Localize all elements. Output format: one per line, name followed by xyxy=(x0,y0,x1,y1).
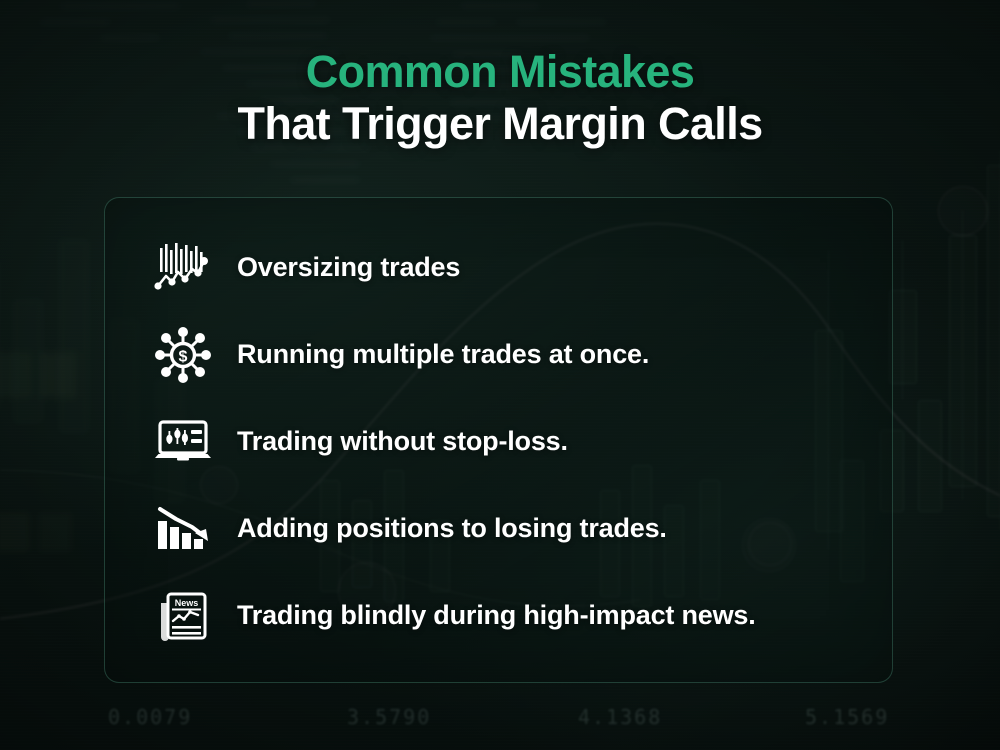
ticker-number: 4.1368 xyxy=(578,705,662,729)
infographic-canvas: 0.0079 3.5790 4.1368 5.1569 Common Mista… xyxy=(0,0,1000,750)
svg-text:$: $ xyxy=(179,348,188,365)
candlestick-chart-line-icon xyxy=(151,237,215,299)
mistakes-list: Oversizing trades xyxy=(105,198,892,682)
list-item[interactable]: News Trading blindly during high-impact … xyxy=(105,572,892,659)
news-label: News xyxy=(175,598,199,608)
laptop-candlestick-chart-icon xyxy=(151,411,215,473)
list-item[interactable]: Trading without stop-loss. xyxy=(105,398,892,485)
list-item[interactable]: Adding positions to losing trades. xyxy=(105,485,892,572)
news-paper-chart-icon: News xyxy=(151,585,215,647)
list-item[interactable]: Oversizing trades xyxy=(105,224,892,311)
list-item-label: Adding positions to losing trades. xyxy=(237,513,667,544)
list-item-label: Oversizing trades xyxy=(237,252,460,283)
background-ticker-row: 0.0079 3.5790 4.1368 5.1569 xyxy=(0,705,1000,739)
list-item-label: Trading without stop-loss. xyxy=(237,426,568,457)
ticker-number: 0.0079 xyxy=(108,705,192,729)
ticker-number: 5.1569 xyxy=(805,705,889,729)
list-item-label: Trading blindly during high-impact news. xyxy=(237,600,756,631)
list-item-label: Running multiple trades at once. xyxy=(237,339,649,370)
mistakes-card: Oversizing trades xyxy=(104,197,893,683)
title-line-secondary: That Trigger Margin Calls xyxy=(0,100,1000,149)
ticker-number: 3.5790 xyxy=(347,705,431,729)
dollar-network-hub-icon: $ xyxy=(151,324,215,386)
title-line-primary: Common Mistakes xyxy=(0,48,1000,97)
list-item[interactable]: $ Running multiple trades at once. xyxy=(105,311,892,398)
page-title: Common Mistakes That Trigger Margin Call… xyxy=(0,48,1000,148)
declining-bar-chart-arrow-icon xyxy=(151,498,215,560)
